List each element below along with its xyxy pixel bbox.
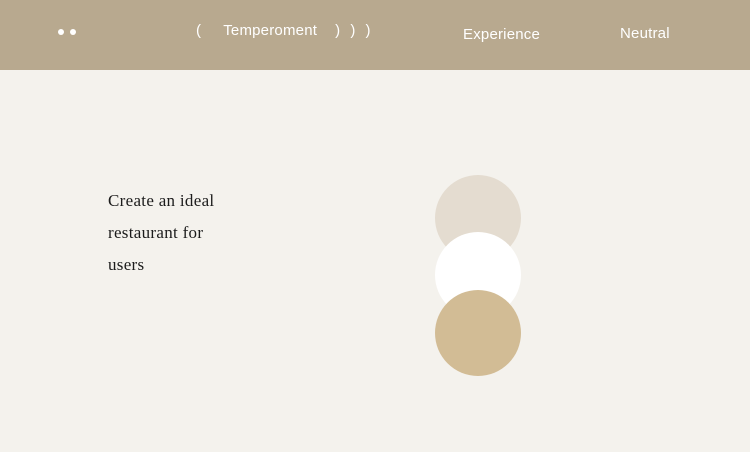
nav-item-neutral[interactable]: Neutral — [620, 25, 670, 42]
brand-paren-close-3: ) — [366, 22, 371, 39]
logo-dots[interactable] — [58, 29, 76, 35]
brand-paren-open: ( — [196, 22, 201, 39]
brand-paren-group: ) ) ) — [335, 22, 371, 39]
page-title: Create an ideal restaurant for users — [108, 185, 338, 281]
headline-line-2: restaurant for — [108, 217, 338, 249]
dot-icon-2 — [70, 29, 76, 35]
brand-temperament[interactable]: ( Temperoment ) ) ) — [196, 22, 371, 39]
color-swatch-stack — [435, 175, 521, 365]
brand-paren-close-1: ) — [335, 22, 340, 39]
site-header: ( Temperoment ) ) ) Experience Neutral — [0, 0, 750, 70]
headline-line-3: users — [108, 249, 338, 281]
nav-item-experience[interactable]: Experience — [463, 26, 540, 43]
brand-label: Temperoment — [223, 22, 317, 39]
brand-paren-close-2: ) — [350, 22, 355, 39]
dot-icon-1 — [58, 29, 64, 35]
page-root: ( Temperoment ) ) ) Experience Neutral C… — [0, 0, 750, 452]
headline-line-1: Create an ideal — [108, 185, 338, 217]
color-swatch-bottom — [435, 290, 521, 376]
